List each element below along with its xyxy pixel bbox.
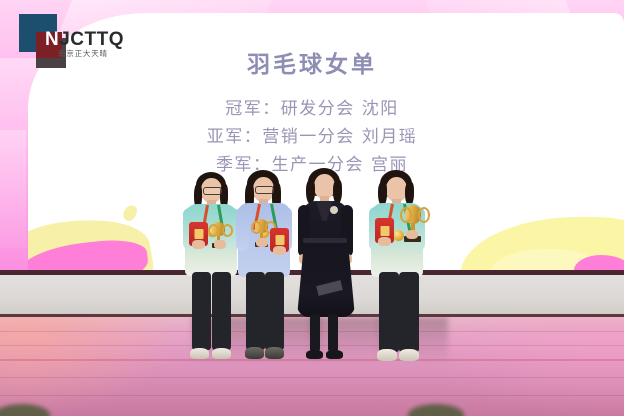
leg-left <box>379 272 399 352</box>
brooch-icon <box>330 206 338 214</box>
envelope-emblem-icon <box>380 226 389 236</box>
envelope-emblem-icon <box>275 235 284 245</box>
trophy-handle-left <box>400 207 412 223</box>
dress-belt <box>303 238 347 243</box>
hand-right <box>406 230 418 239</box>
glasses <box>203 187 222 195</box>
trophy-handle-right <box>222 224 233 237</box>
arm-left <box>236 207 249 251</box>
medal <box>393 230 404 241</box>
leg-left <box>246 272 265 350</box>
shoe-right <box>399 349 419 361</box>
result-line-champion: 冠军：研发分会 沈阳 <box>0 94 624 119</box>
shoe-right <box>265 347 284 359</box>
slide-title: 羽毛球女单 <box>0 45 624 79</box>
glasses <box>255 186 274 194</box>
yellow-flourish-dot-icon <box>121 203 138 222</box>
leg-left <box>192 272 211 350</box>
leg-right <box>328 314 338 352</box>
leg-right <box>265 272 284 350</box>
screenshot-root: NJCTTQ 南京正大天晴 羽毛球女单 冠军：研发分会 沈阳 亚军：营销一分会 … <box>0 0 624 416</box>
dress-skirt <box>297 243 355 317</box>
leg-right <box>212 272 231 350</box>
shoe-left <box>377 349 397 361</box>
leg-left <box>310 314 320 352</box>
hand-left <box>256 238 268 247</box>
floor-plank-line <box>0 377 624 378</box>
hand-right <box>273 246 286 255</box>
hand-left <box>192 240 205 249</box>
shoe-left <box>306 350 323 359</box>
trophy-handle-right <box>418 207 430 223</box>
hand-left <box>378 237 391 246</box>
hand-right <box>214 240 226 249</box>
shoe-left <box>245 347 264 359</box>
result-line-runner-up: 亚军：营销一分会 刘月瑶 <box>0 122 624 147</box>
shoe-right <box>212 348 231 359</box>
floor-plank-line <box>0 395 624 396</box>
shoe-right <box>326 350 343 359</box>
leg-right <box>399 272 419 352</box>
shoe-left <box>190 348 209 359</box>
envelope-emblem-icon <box>194 229 203 239</box>
